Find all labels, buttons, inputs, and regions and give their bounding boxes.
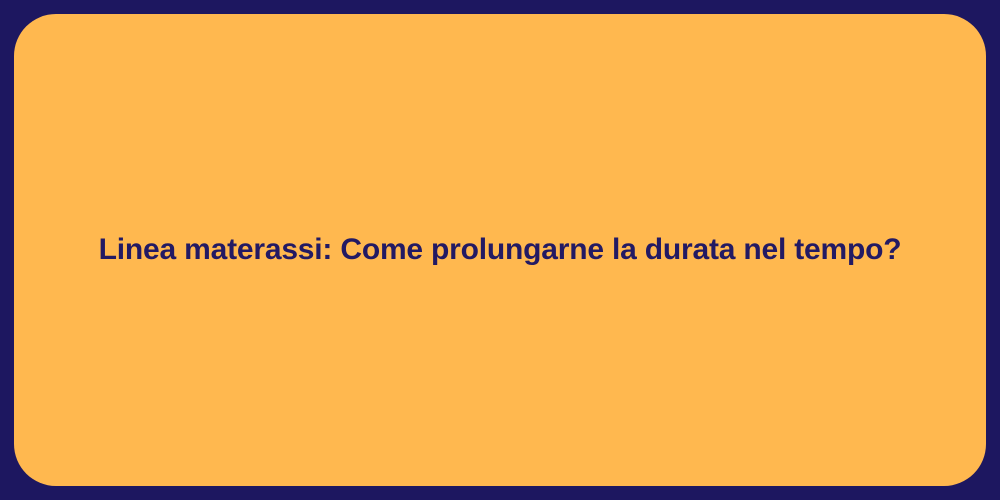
banner-frame: Linea materassi: Come prolungarne la dur… xyxy=(0,0,1000,500)
banner-card: Linea materassi: Come prolungarne la dur… xyxy=(14,14,986,486)
banner-headline: Linea materassi: Come prolungarne la dur… xyxy=(59,231,942,269)
